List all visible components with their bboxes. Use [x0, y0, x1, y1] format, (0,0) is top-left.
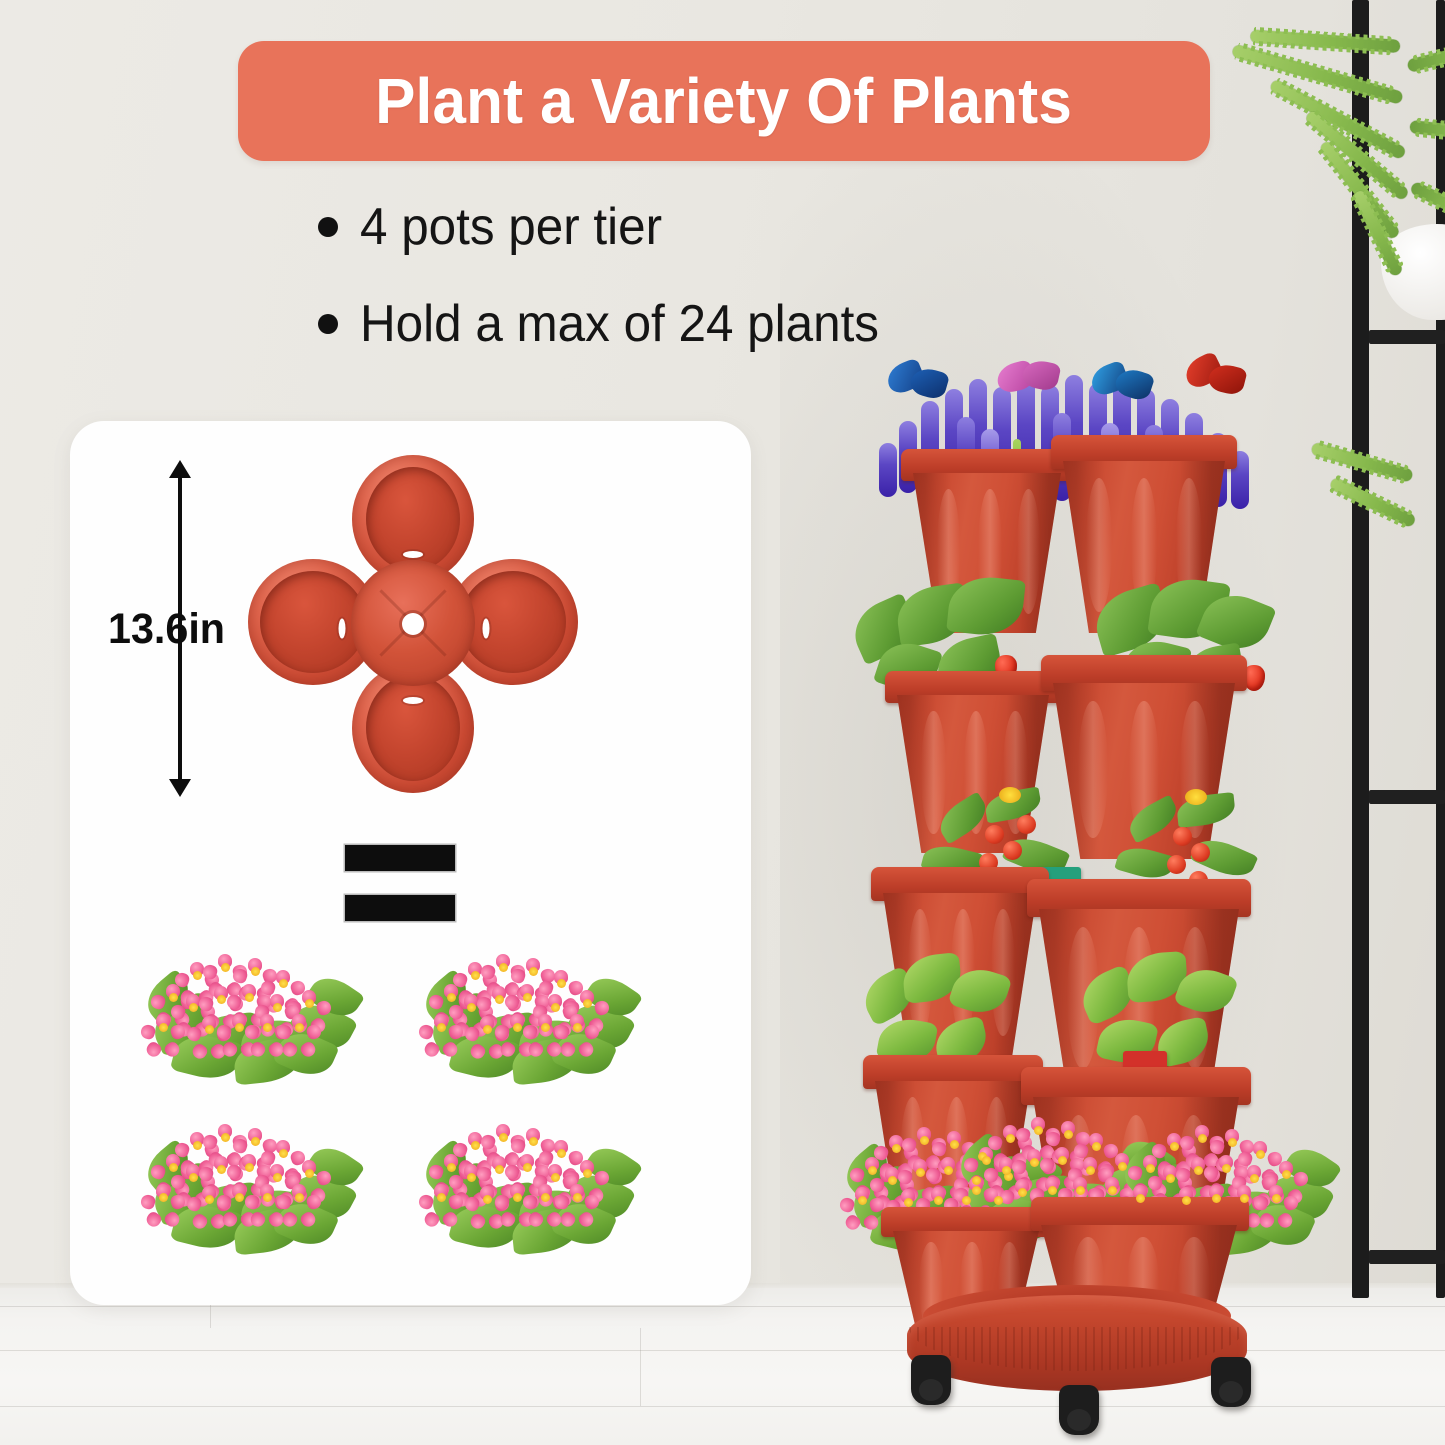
primrose-center: [551, 1173, 560, 1182]
page-title: Plant a Variety Of Plants: [376, 64, 1073, 138]
primrose-flower: [1083, 1133, 1109, 1159]
primrose-center: [169, 993, 178, 1002]
primrose-center: [573, 1023, 582, 1032]
primrose-center: [892, 1144, 901, 1153]
primrose-center: [1146, 1164, 1155, 1173]
primrose-center: [523, 1163, 532, 1172]
arrow-head-down-icon: [169, 779, 191, 797]
primrose-center: [513, 1193, 522, 1202]
primrose-center: [1006, 1134, 1015, 1143]
primrose-center: [916, 1168, 925, 1177]
primrose-center: [541, 1193, 550, 1202]
primrose-center: [962, 1196, 971, 1205]
primrose-center: [295, 1023, 304, 1032]
primrose-center: [483, 1195, 492, 1204]
primrose-center: [305, 999, 314, 1008]
primrose-center: [541, 1023, 550, 1032]
primrose-center: [888, 1176, 897, 1185]
bullet-label: Hold a max of 24 plants: [360, 297, 879, 352]
primrose-center: [251, 967, 260, 976]
primrose-center: [583, 1169, 592, 1178]
primrose-center: [1212, 1194, 1221, 1203]
drain-slot-top: [403, 551, 423, 558]
primrose-center: [263, 1193, 272, 1202]
primrose-center: [295, 1193, 304, 1202]
primrose-center: [934, 1196, 943, 1205]
primrose-center: [982, 1156, 991, 1165]
primrose-center: [994, 1196, 1003, 1205]
primrose-flower: [242, 1128, 268, 1154]
primrose-center: [1182, 1196, 1191, 1205]
primrose-center: [523, 993, 532, 1002]
primrose-flower: [428, 1014, 454, 1040]
dimension-label: 13.6in: [108, 605, 225, 654]
primrose-center: [235, 1023, 244, 1032]
primrose-flower: [270, 1140, 296, 1166]
primrose-center: [189, 1173, 198, 1182]
primrose-center: [471, 971, 480, 980]
caster-wheel-left: [911, 1355, 951, 1405]
primrose-center: [1086, 1166, 1095, 1175]
primrose-center: [1136, 1194, 1145, 1203]
primrose-center: [868, 1166, 877, 1175]
shelf-rail-3: [1369, 1250, 1445, 1264]
primrose-flower: [564, 1184, 590, 1210]
primrose-flower: [1055, 1121, 1081, 1147]
primrose-center: [447, 1163, 456, 1172]
primrose-center: [235, 1193, 244, 1202]
primrose-center: [305, 1169, 314, 1178]
primrose-center: [499, 1133, 508, 1142]
primrose-center: [904, 1198, 913, 1207]
bullet-dot-icon: [318, 314, 338, 334]
primrose-center: [551, 1003, 560, 1012]
primrose-center: [221, 963, 230, 972]
primrose-center: [471, 1141, 480, 1150]
primrose-center: [221, 1133, 230, 1142]
primrose-center: [529, 967, 538, 976]
primrose-center: [437, 1023, 446, 1032]
primrose-center: [193, 971, 202, 980]
primrose-center: [557, 979, 566, 988]
primrose-center: [1166, 1174, 1175, 1183]
primrose-flower: [564, 1014, 590, 1040]
primrose-flower: [1273, 1161, 1299, 1187]
primrose-flower: [286, 1014, 312, 1040]
equals-sign-icon: [345, 845, 455, 923]
primrose-center: [193, 1141, 202, 1150]
primrose-center: [1092, 1142, 1101, 1151]
drain-slot-left: [339, 619, 346, 639]
primrose-center: [437, 1193, 446, 1202]
primrose-center: [972, 1176, 981, 1185]
primrose-cluster-2: [428, 940, 633, 1070]
bullet-dot-icon: [318, 217, 338, 237]
shelf-rail-2: [1369, 790, 1445, 804]
equals-bar-upper: [345, 845, 455, 871]
primrose-center: [1058, 1156, 1067, 1165]
primrose-flower: [849, 1187, 875, 1213]
primrose-center: [1108, 1186, 1117, 1195]
primrose-center: [1256, 1150, 1265, 1159]
primrose-center: [279, 1149, 288, 1158]
primrose-flower: [548, 970, 574, 996]
primrose-center: [1272, 1194, 1281, 1203]
primrose-flower: [150, 1184, 176, 1210]
primrose-center: [1194, 1166, 1203, 1175]
primrose-center: [159, 1193, 168, 1202]
primrose-center: [1250, 1174, 1259, 1183]
primrose-center: [447, 993, 456, 1002]
primrose-center: [189, 1003, 198, 1012]
primrose-flower: [1247, 1141, 1273, 1167]
primrose-cluster-3: [150, 1110, 355, 1240]
primrose-flower: [150, 1014, 176, 1040]
primrose-flower: [574, 1160, 600, 1186]
primrose-center: [583, 999, 592, 1008]
primrose-flower: [520, 1128, 546, 1154]
four-lobe-planter-top-view-icon: [248, 455, 578, 800]
primrose-center: [263, 1023, 272, 1032]
primrose-flower: [574, 990, 600, 1016]
primrose-cluster-4: [428, 1110, 633, 1240]
primrose-center: [858, 1196, 867, 1205]
primrose-center: [273, 1003, 282, 1012]
primrose-center: [1282, 1170, 1291, 1179]
primrose-center: [495, 995, 504, 1004]
primrose-flower: [1219, 1129, 1245, 1155]
primrose-center: [245, 993, 254, 1002]
primrose-center: [205, 1025, 214, 1034]
primrose-flower: [1263, 1185, 1289, 1211]
primrose-center: [217, 995, 226, 1004]
primrose-cluster-1: [150, 940, 355, 1070]
primrose-center: [573, 1193, 582, 1202]
primrose-flower: [296, 1160, 322, 1186]
feature-bullet-list: 4 pots per tier Hold a max of 24 plants: [318, 200, 1118, 393]
primrose-center: [1076, 1186, 1085, 1195]
primrose-center: [513, 1023, 522, 1032]
primrose-center: [205, 1195, 214, 1204]
drainage-hole-icon: [402, 613, 424, 635]
primrose-center: [950, 1140, 959, 1149]
primrose-center: [273, 1173, 282, 1182]
bullet-label: 4 pots per tier: [360, 200, 662, 255]
primrose-center: [495, 1165, 504, 1174]
primrose-flower: [532, 1014, 558, 1040]
primrose-center: [169, 1163, 178, 1172]
equals-bar-lower: [345, 895, 455, 921]
caster-wheel-front: [1059, 1385, 1099, 1435]
primrose-flower: [270, 970, 296, 996]
primrose-center: [1034, 1126, 1043, 1135]
primrose-center: [499, 963, 508, 972]
drain-slot-bottom: [403, 697, 423, 704]
primrose-flower: [520, 958, 546, 984]
primrose-center: [1240, 1194, 1249, 1203]
primrose-center: [467, 1003, 476, 1012]
primrose-center: [1002, 1166, 1011, 1175]
caster-wheel-right: [1211, 1357, 1251, 1407]
primrose-center: [1228, 1138, 1237, 1147]
primrose-flower: [296, 990, 322, 1016]
primrose-center: [972, 1186, 981, 1195]
title-banner: Plant a Variety Of Plants: [238, 41, 1210, 161]
primrose-center: [557, 1149, 566, 1158]
primrose-flower: [254, 1014, 280, 1040]
primrose-center: [251, 1137, 260, 1146]
primrose-center: [1170, 1142, 1179, 1151]
shelf-rail-1: [1369, 330, 1445, 344]
primrose-flower: [548, 1140, 574, 1166]
lobe-bottom-cup: [366, 675, 460, 781]
primrose-center: [1030, 1158, 1039, 1167]
primrose-flower: [254, 1184, 280, 1210]
primrose-flower: [242, 958, 268, 984]
bullet-item-pots-per-tier: 4 pots per tier: [318, 200, 1118, 255]
plant-equivalence-grid: [150, 940, 680, 1240]
primrose-center: [467, 1173, 476, 1182]
drain-slot-right: [483, 619, 490, 639]
primrose-center: [920, 1136, 929, 1145]
primrose-center: [1018, 1188, 1027, 1197]
primrose-flower: [286, 1184, 312, 1210]
primrose-center: [1198, 1134, 1207, 1143]
lobe-right-cup: [460, 571, 566, 673]
primrose-petal: [417, 1023, 435, 1041]
primrose-center: [1064, 1130, 1073, 1139]
primrose-petal: [417, 1193, 435, 1211]
primrose-center: [245, 1163, 254, 1172]
primrose-center: [529, 1137, 538, 1146]
tiered-planter-tower: [845, 355, 1305, 1445]
primrose-center: [1118, 1162, 1127, 1171]
primrose-center: [483, 1025, 492, 1034]
primrose-center: [159, 1023, 168, 1032]
primrose-center: [217, 1165, 226, 1174]
primrose-flower: [532, 1184, 558, 1210]
primrose-flower: [428, 1184, 454, 1210]
primrose-center: [1048, 1186, 1057, 1195]
primrose-center: [944, 1166, 953, 1175]
primrose-center: [279, 979, 288, 988]
primrose-center: [1222, 1164, 1231, 1173]
bullet-item-max-plants: Hold a max of 24 plants: [318, 297, 1118, 352]
